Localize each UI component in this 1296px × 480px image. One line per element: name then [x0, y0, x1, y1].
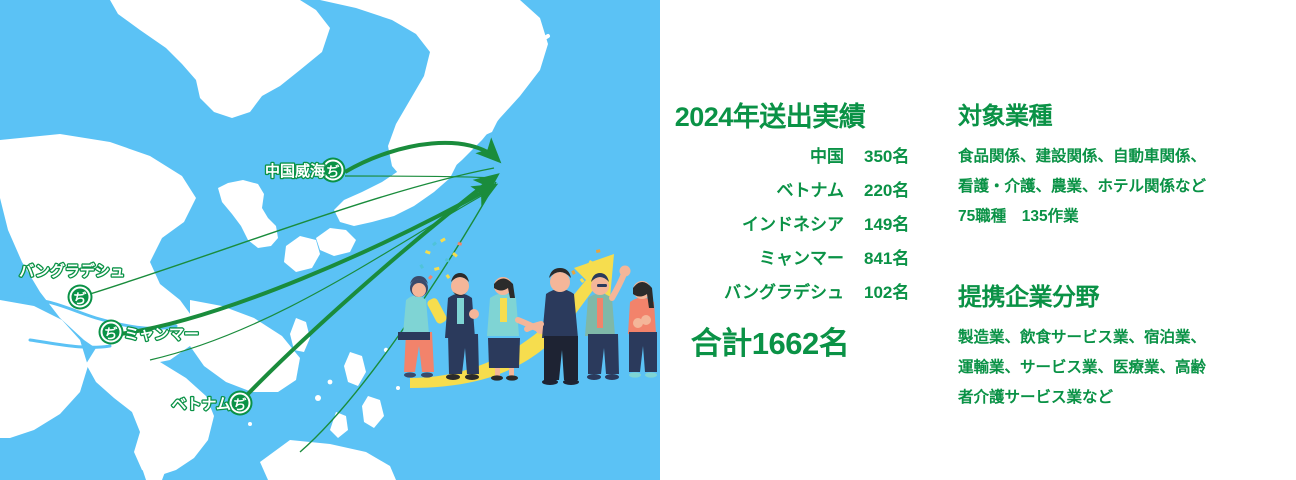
section-body: 製造業、飲食サービス業、宿泊業、 運輸業、サービス業、医療業、高齢 者介護サービ…: [958, 323, 1288, 413]
infographic-root: ぢ 中国威海 ぢ バングラデシュ ぢ: [0, 0, 1296, 480]
marker-glyph: ぢ: [233, 397, 246, 412]
section-title: 対象業種: [958, 96, 1288, 131]
stat-country-label: ミャンマー: [759, 250, 844, 267]
marker-glyph: ぢ: [73, 291, 86, 306]
confetti: [419, 238, 606, 283]
person-1: [403, 276, 448, 378]
stat-count-value: 149名: [844, 216, 920, 233]
stat-country-label: 中国: [810, 148, 844, 165]
table-row: ミャンマー 841名: [620, 250, 920, 267]
marker-glyph: ぢ: [104, 326, 117, 341]
map-label-bangladesh: バングラデシュ: [19, 262, 125, 280]
stats-total: 合計1662名: [620, 318, 920, 363]
marker-glyph: ぢ: [326, 164, 339, 179]
stats-title: 2024年送出実績: [620, 95, 920, 134]
marker-vietnam[interactable]: ぢ: [228, 391, 253, 416]
person-4: [527, 268, 579, 385]
table-row: 中国 350名: [620, 148, 920, 165]
map-label-myanmar: ミャンマー: [124, 326, 199, 343]
marker-bangladesh[interactable]: ぢ: [68, 285, 93, 310]
stat-count-value: 350名: [844, 148, 920, 165]
table-row: バングラデシュ 102名: [620, 284, 920, 301]
stats-rows-list: 中国 350名 ベトナム 220名 インドネシア 149名 ミャンマー 841名…: [620, 148, 920, 301]
person-2: [445, 273, 479, 380]
stat-country-label: バングラデシュ: [724, 284, 844, 301]
section-body: 食品関係、建設関係、自動車関係、 看護・介護、農業、ホテル関係など 75職種 1…: [958, 142, 1288, 232]
map-label-china: 中国威海: [265, 162, 325, 180]
stat-country-label: ベトナム: [777, 182, 845, 199]
body-line: 者介護サービス業など: [958, 383, 1288, 413]
partner-company-fields-section: 提携企業分野 製造業、飲食サービス業、宿泊業、 運輸業、サービス業、医療業、高齢…: [958, 277, 1288, 413]
stat-country-label: インドネシア: [742, 216, 844, 233]
stat-count-value: 102名: [844, 284, 920, 301]
body-line: 看護・介護、農業、ホテル関係など: [958, 172, 1288, 202]
marker-myanmar[interactable]: ぢ: [99, 320, 124, 345]
body-line: 75職種 135作業: [958, 202, 1288, 232]
table-row: ベトナム 220名: [620, 182, 920, 199]
section-title: 提携企業分野: [958, 277, 1288, 312]
map-label-vietnam: ベトナム: [171, 396, 231, 413]
table-row: インドネシア 149名: [620, 216, 920, 233]
body-line: 運輸業、サービス業、医療業、高齢: [958, 353, 1288, 383]
dispatch-results-block: 2024年送出実績 中国 350名 ベトナム 220名 インドネシア 149名 …: [620, 95, 920, 363]
body-line: 食品関係、建設関係、自動車関係、: [958, 142, 1288, 172]
stat-count-value: 841名: [844, 250, 920, 267]
body-line: 製造業、飲食サービス業、宿泊業、: [958, 323, 1288, 353]
stat-count-value: 220名: [844, 182, 920, 199]
target-industries-section: 対象業種 食品関係、建設関係、自動車関係、 看護・介護、農業、ホテル関係など 7…: [958, 96, 1288, 232]
